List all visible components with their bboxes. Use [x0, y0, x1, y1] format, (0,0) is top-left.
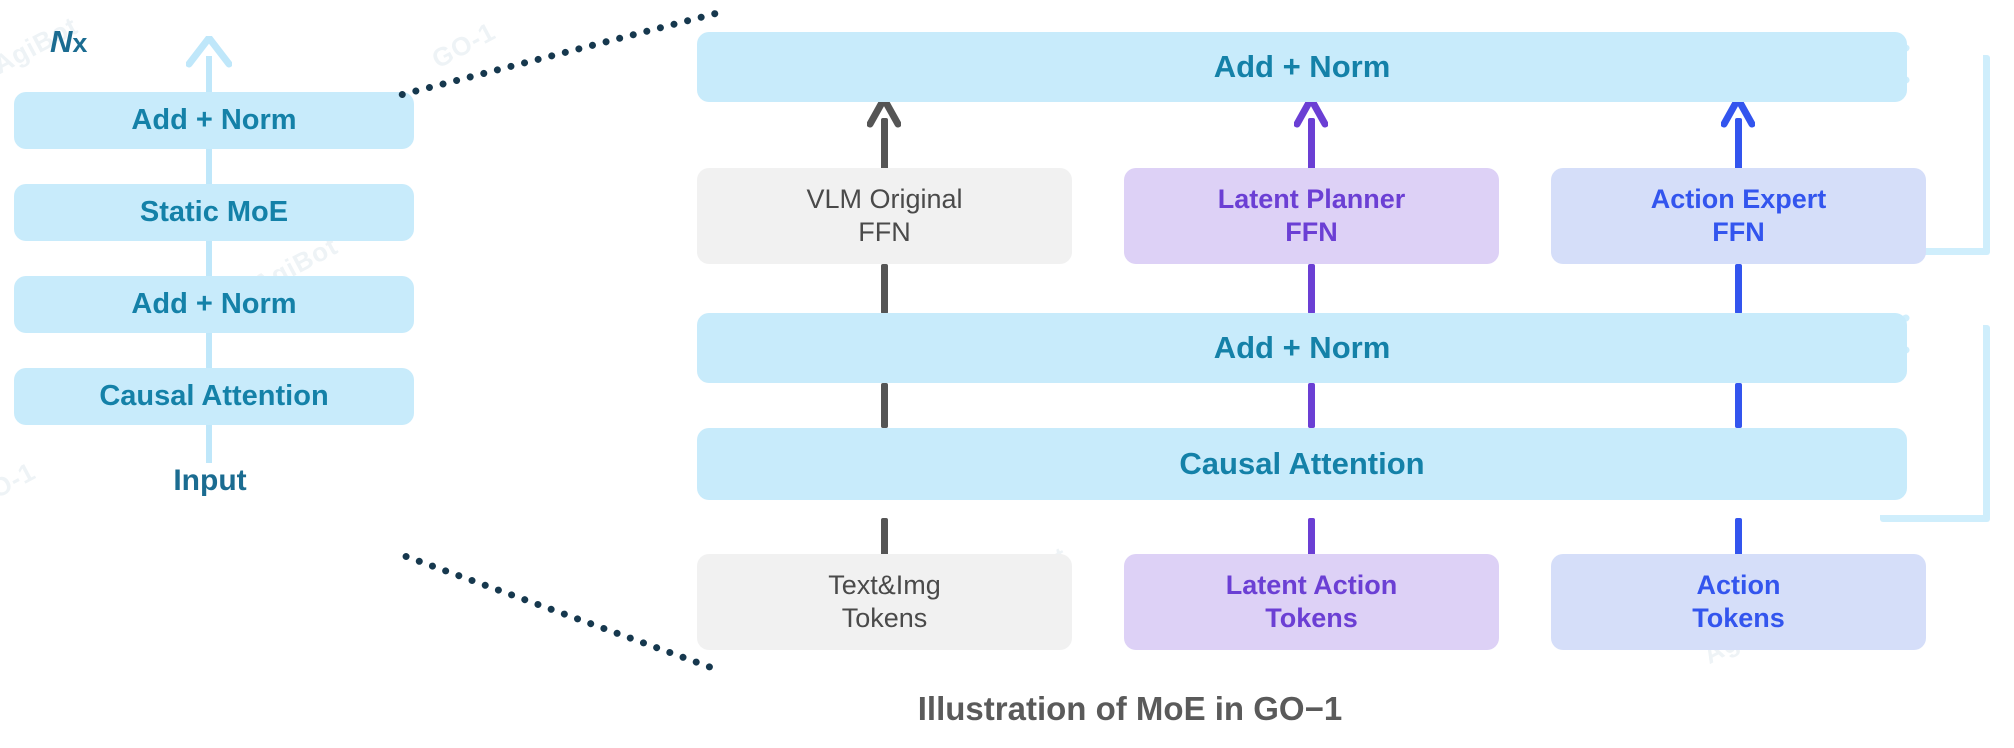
latent-planner-ffn-box[interactable]: Latent Planner FFN	[1124, 168, 1499, 264]
right-top-add-norm[interactable]: Add + Norm	[697, 32, 1907, 102]
text-img-tokens-box[interactable]: Text&Img Tokens	[697, 554, 1072, 650]
connector-attention-to-addnorm-a	[881, 383, 888, 428]
right-causal-attention[interactable]: Causal Attention	[697, 428, 1907, 500]
vlm-original-ffn-box[interactable]: VLM Original FFN	[697, 168, 1072, 264]
latent-planner-ffn-label: Latent Planner FFN	[1218, 183, 1406, 249]
figure-canvas: AgiBot GO-1 AgiBot GO-1 AgiBot GO-1 AgiB…	[0, 0, 2014, 748]
connector-addnorm-to-vlm-ffn	[881, 264, 888, 314]
action-expert-ffn-box[interactable]: Action Expert FFN	[1551, 168, 1926, 264]
connector-addnorm-to-action-ffn	[1735, 264, 1742, 314]
latent-action-tokens-label: Latent Action Tokens	[1226, 569, 1398, 635]
connector-latent-action-to-attention	[1308, 518, 1315, 558]
action-tokens-box[interactable]: Action Tokens	[1551, 554, 1926, 650]
connector-addnorm-to-planner-ffn	[1308, 264, 1315, 314]
right-causal-attention-label: Causal Attention	[1179, 445, 1424, 483]
right-mid-add-norm[interactable]: Add + Norm	[697, 313, 1907, 383]
right-top-add-norm-label: Add + Norm	[1214, 48, 1391, 86]
right-mid-add-norm-label: Add + Norm	[1214, 329, 1391, 367]
action-expert-ffn-label: Action Expert FFN	[1651, 183, 1827, 249]
connector-attention-to-addnorm-b	[1308, 383, 1315, 428]
connector-text-img-to-attention	[881, 518, 888, 558]
latent-action-tokens-box[interactable]: Latent Action Tokens	[1124, 554, 1499, 650]
right-panel: Add + Norm VLM Original FFN Latent Plann…	[0, 0, 2014, 748]
connector-action-to-attention	[1735, 518, 1742, 558]
figure-caption: Illustration of MoE in GO−1	[680, 690, 1580, 728]
action-tokens-label: Action Tokens	[1692, 569, 1785, 635]
vlm-original-ffn-label: VLM Original FFN	[806, 183, 962, 249]
connector-attention-to-addnorm-c	[1735, 383, 1742, 428]
text-img-tokens-label: Text&Img Tokens	[828, 569, 941, 635]
